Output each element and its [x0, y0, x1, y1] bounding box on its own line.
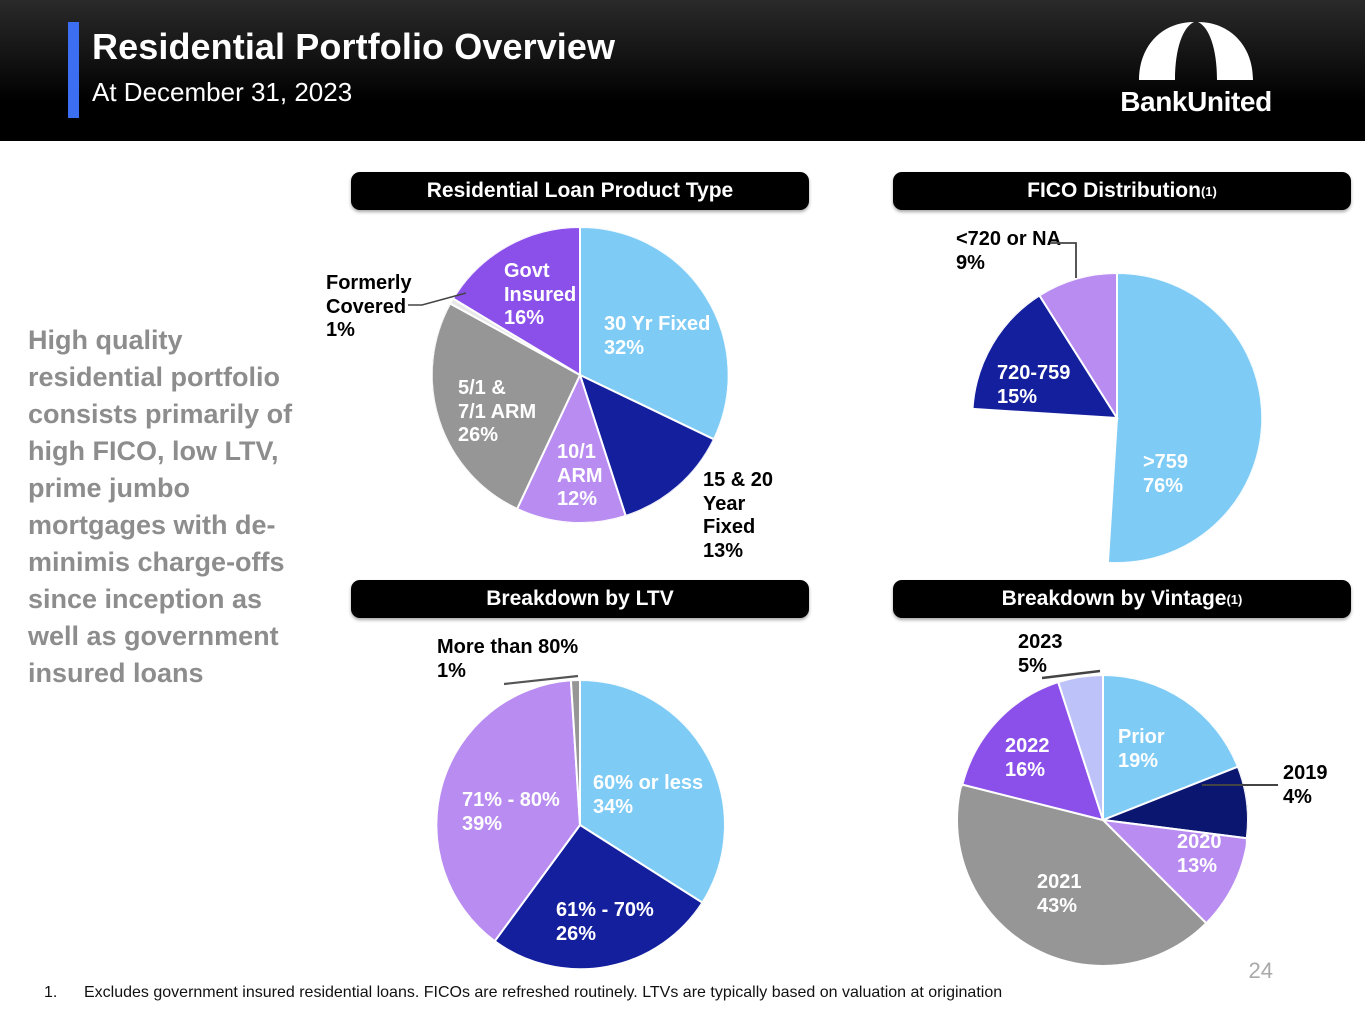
pie-slice-fico-gt759 — [1108, 273, 1262, 563]
pie-label-ltv-71-80: 71% - 80% 39% — [462, 789, 560, 836]
bankunited-arches-icon — [1101, 18, 1291, 84]
pie-chart-vintage — [958, 675, 1248, 965]
pie-label-vintage-prior: Prior 19% — [1118, 726, 1165, 773]
chart-title-fico: FICO Distribution(1) — [893, 172, 1351, 210]
pie-label-30yr-fixed: 30 Yr Fixed 32% — [604, 313, 710, 360]
page-number: 24 — [1249, 958, 1273, 984]
pie-label-10-1-arm: 10/1 ARM 12% — [557, 441, 603, 512]
leader-line-vintage-2019 — [1200, 778, 1280, 792]
slide-header: Residential Portfolio Overview At Decemb… — [0, 0, 1365, 141]
footnote-text: Excludes government insured residential … — [84, 984, 1002, 1001]
slide-root: Residential Portfolio Overview At Decemb… — [0, 0, 1365, 1024]
chart-title-ltv-text: Breakdown by LTV — [486, 587, 673, 611]
chart-title-vintage-superscript: (1) — [1226, 592, 1242, 607]
chart-title-fico-text: FICO Distribution — [1027, 179, 1201, 203]
chart-title-vintage: Breakdown by Vintage(1) — [893, 580, 1351, 618]
chart-title-product-type-text: Residential Loan Product Type — [427, 179, 734, 203]
bankunited-logo: BankUnited — [1101, 18, 1291, 124]
pie-label-ltv-61-70: 61% - 70% 26% — [556, 899, 654, 946]
leader-line-ltv-more-than-80 — [504, 672, 580, 690]
pie-label-formerly-covered: Formerly Covered 1% — [326, 272, 412, 343]
logo-wordmark: BankUnited — [1101, 86, 1291, 118]
pie-label-fico-gt759: >759 76% — [1143, 451, 1188, 498]
chart-title-fico-superscript: (1) — [1201, 184, 1217, 199]
pie-label-15-20yr-fixed: 15 & 20 Year Fixed 13% — [703, 469, 773, 563]
footnote-number: 1. — [44, 984, 84, 1002]
pie-label-ltv-60-or-less: 60% or less 34% — [593, 772, 703, 819]
pie-label-vintage-2020: 2020 13% — [1177, 831, 1222, 878]
leader-line-formerly-covered — [408, 290, 468, 312]
chart-title-product-type: Residential Loan Product Type — [351, 172, 809, 210]
pie-label-govt-insured: Govt Insured 16% — [504, 260, 576, 331]
pie-chart-fico — [972, 273, 1262, 563]
page-title: Residential Portfolio Overview — [92, 28, 615, 67]
pie-label-vintage-2021: 2021 43% — [1037, 871, 1082, 918]
header-accent-bar — [68, 22, 79, 118]
pie-label-fico-lt720: <720 or NA 9% — [956, 228, 1061, 275]
footnote: 1.Excludes government insured residentia… — [44, 984, 1314, 1002]
leader-line-fico-lt720 — [1050, 240, 1082, 280]
page-subtitle: At December 31, 2023 — [92, 77, 352, 108]
chart-title-ltv: Breakdown by LTV — [351, 580, 809, 618]
portfolio-summary-text: High quality residential portfolio consi… — [28, 322, 298, 692]
pie-label-vintage-2022: 2022 16% — [1005, 735, 1050, 782]
leader-line-vintage-2023 — [1042, 668, 1102, 684]
pie-label-5-1-7-1-arm: 5/1 & 7/1 ARM 26% — [458, 377, 536, 448]
pie-label-vintage-2019: 2019 4% — [1283, 762, 1328, 809]
chart-title-vintage-text: Breakdown by Vintage — [1002, 587, 1227, 611]
pie-label-fico-720-759: 720-759 15% — [997, 362, 1070, 409]
